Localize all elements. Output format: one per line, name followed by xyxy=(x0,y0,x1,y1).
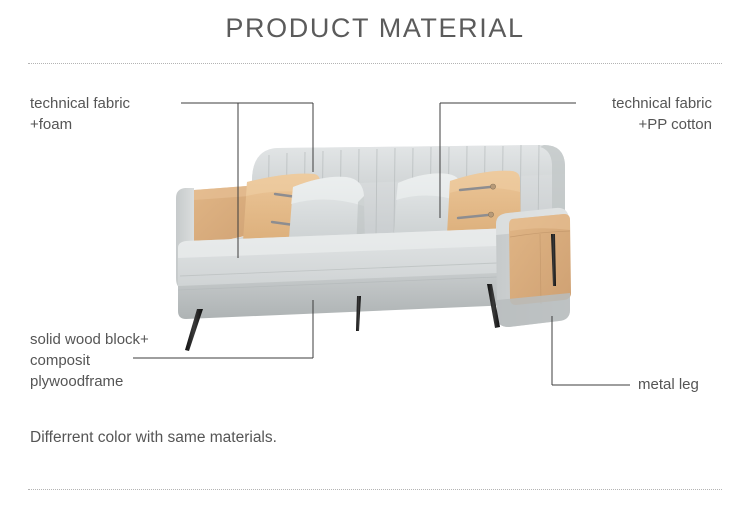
sofa-illustration xyxy=(160,138,580,363)
callout-solid-wood-block: solid wood block+ composit plywoodframe xyxy=(30,329,149,392)
footer-note: Differrent color with same materials. xyxy=(30,429,277,447)
divider-top xyxy=(28,63,722,64)
callout-technical-fabric-pp-cotton: technical fabric +PP cotton xyxy=(612,93,712,135)
callout-technical-fabric-foam: technical fabric +foam xyxy=(30,93,130,135)
product-material-infographic: PRODUCT MATERIAL xyxy=(0,0,750,508)
divider-bottom xyxy=(28,489,722,490)
page-title: PRODUCT MATERIAL xyxy=(0,13,750,44)
sofa-right-armrest xyxy=(496,208,571,327)
callout-metal-leg: metal leg xyxy=(638,374,699,395)
